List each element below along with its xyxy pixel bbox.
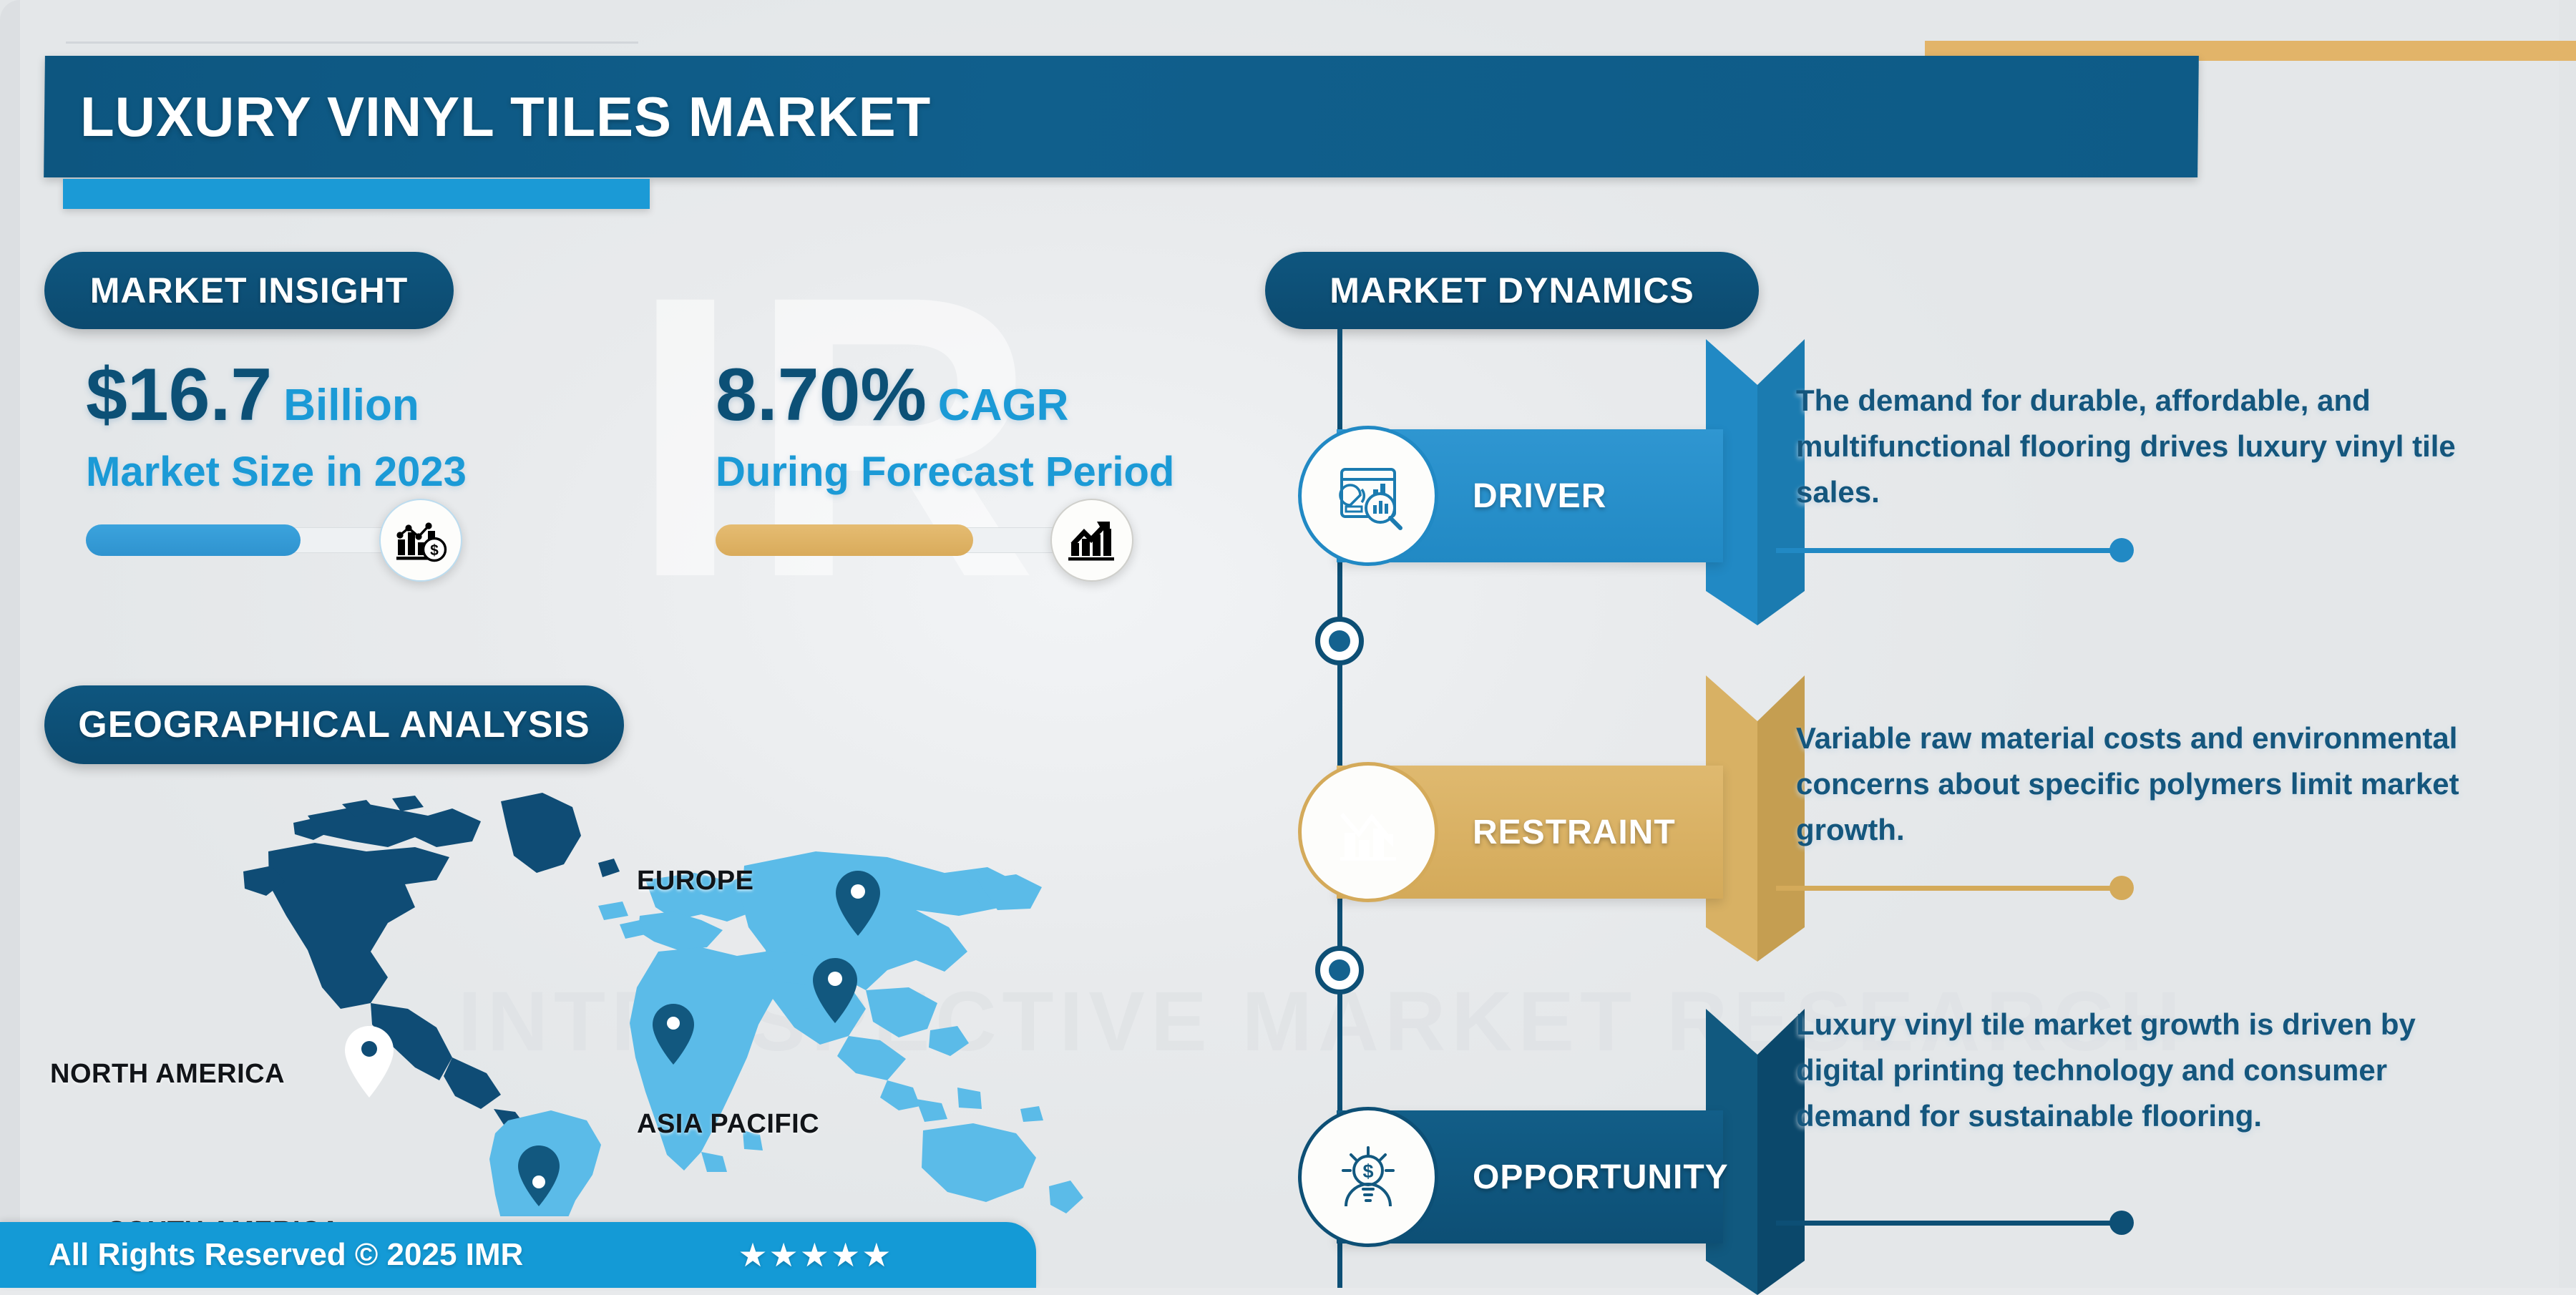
page-title: LUXURY VINYL TILES MARKET <box>80 84 931 150</box>
dynamics-underline <box>1776 1221 2119 1226</box>
section-chip-label: MARKET DYNAMICS <box>1330 270 1694 311</box>
world-map-svg <box>200 773 1145 1216</box>
page-left-edge <box>0 0 20 1288</box>
stat-progress-bar: $ <box>86 524 458 556</box>
map-pin-north-america[interactable] <box>345 1026 394 1098</box>
map-region-oceania <box>922 1106 1083 1213</box>
header-banner: LUXURY VINYL TILES MARKET <box>44 56 2199 177</box>
stat-caption: Market Size in 2023 <box>86 448 467 496</box>
page-right-edge <box>2559 0 2576 1288</box>
stat-unit: Billion <box>283 381 419 430</box>
stat-value-row: 8.70%CAGR <box>716 358 1174 432</box>
svg-text:$: $ <box>1362 1160 1373 1182</box>
section-chip-market-insight: MARKET INSIGHT <box>44 252 454 329</box>
bar-chart-dollar-icon: $ <box>379 499 462 582</box>
stat-value-row: $16.7Billion <box>86 358 467 432</box>
copyright-text: All Rights Reserved © 2025 IMR <box>49 1237 523 1273</box>
section-chip-geographical-analysis: GEOGRAPHICAL ANALYSIS <box>44 685 624 764</box>
section-chip-label: GEOGRAPHICAL ANALYSIS <box>78 703 590 746</box>
dynamics-tab[interactable]: DRIVER <box>1337 429 1723 562</box>
dynamics-tab[interactable]: $ OPPORTUNITY <box>1337 1110 1723 1243</box>
dynamics-underline-dot <box>2109 876 2134 900</box>
timeline-node <box>1315 617 1364 665</box>
progress-fill <box>716 524 973 556</box>
dynamics-label: RESTRAINT <box>1473 813 1676 852</box>
section-chip-market-dynamics: MARKET DYNAMICS <box>1265 252 1759 329</box>
map-label-north-america: NORTH AMERICA <box>50 1059 285 1090</box>
lightbulb-dollar-icon: $ <box>1298 1107 1438 1247</box>
growth-arrow-chart-icon <box>1050 499 1133 582</box>
dynamics-underline-dot <box>2109 538 2134 562</box>
dynamics-underline <box>1776 548 2119 553</box>
map-region-asia <box>741 851 1042 1122</box>
header-hairline <box>66 41 638 44</box>
infographic-page: IR INTROSPECTIVE MARKET RESEARCH LUXURY … <box>0 0 2576 1288</box>
star-rating: ★★★★★ <box>738 1236 892 1274</box>
dynamics-label: DRIVER <box>1473 477 1606 516</box>
map-region-north-america <box>243 793 620 1125</box>
stat-caption: During Forecast Period <box>716 448 1174 496</box>
dynamics-underline <box>1776 886 2119 891</box>
dynamics-description: The demand for durable, affordable, and … <box>1796 378 2483 514</box>
progress-fill <box>86 524 301 556</box>
stat-progress-bar <box>716 524 1088 556</box>
map-label-asia-pacific: ASIA PACIFIC <box>637 1109 819 1140</box>
stat-value: 8.70% <box>716 353 927 436</box>
stat-value: $16.7 <box>86 353 272 436</box>
dynamics-tab[interactable]: RESTRAINT <box>1337 766 1723 899</box>
dynamics-underline-dot <box>2109 1211 2134 1235</box>
stat-unit: CAGR <box>938 381 1069 430</box>
header-underline-bar <box>63 179 650 209</box>
footer-bar: All Rights Reserved © 2025 IMR ★★★★★ <box>0 1222 1036 1288</box>
stat-cagr: 8.70%CAGR During Forecast Period <box>716 358 1174 556</box>
stat-market-size: $16.7Billion Market Size in 2023 $ <box>86 358 467 556</box>
section-chip-label: MARKET INSIGHT <box>90 270 409 311</box>
dynamics-description: Variable raw material costs and environm… <box>1796 715 2483 852</box>
timeline-node <box>1315 946 1364 995</box>
world-map: NORTH AMERICA SOUTH AMERICA MIDDLE EAST … <box>200 773 1145 1216</box>
declining-bar-chart-icon <box>1298 762 1438 902</box>
dynamics-description: Luxury vinyl tile market growth is drive… <box>1796 1002 2483 1138</box>
dynamics-label: OPPORTUNITY <box>1473 1158 1729 1197</box>
map-label-europe: EUROPE <box>637 866 753 896</box>
analytics-magnifier-icon <box>1298 426 1438 566</box>
svg-text:$: $ <box>430 542 439 559</box>
